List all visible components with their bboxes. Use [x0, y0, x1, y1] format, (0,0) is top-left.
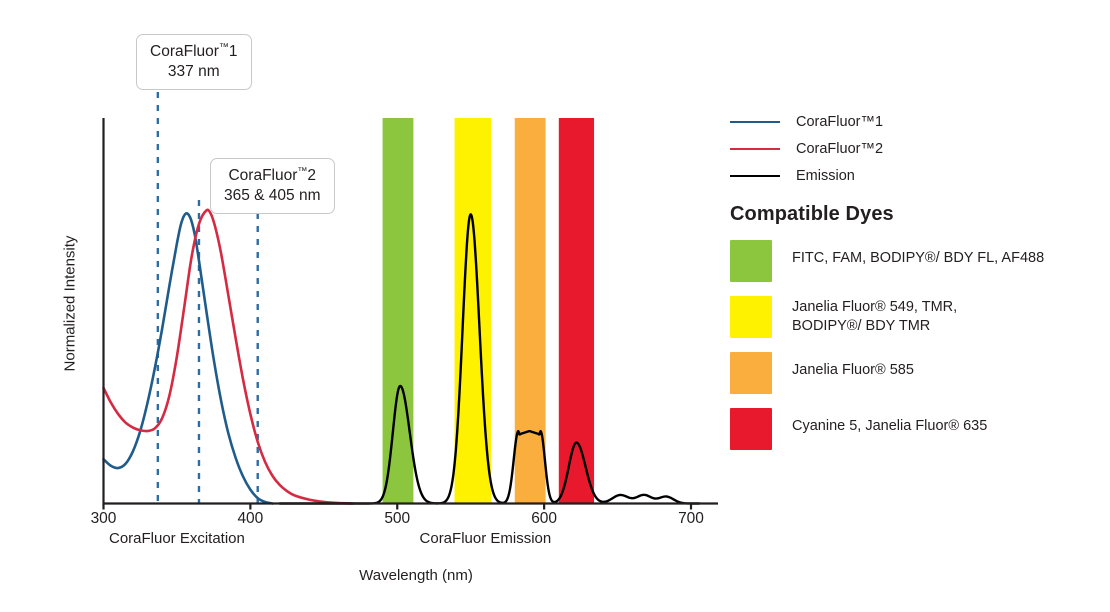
callout-corafluor-1: CoraFluor™1 337 nm — [136, 34, 252, 90]
legend-panel: CoraFluor™1CoraFluor™2Emission Compatibl… — [730, 108, 1090, 450]
x-axis-title: Wavelength (nm) — [296, 567, 536, 584]
legend-item-label: CoraFluor™1 — [796, 114, 883, 130]
dye-legend-item-2: Janelia Fluor® 549, TMR,BODIPY®/ BDY TMR — [730, 296, 1090, 338]
dye-label-line-1: Janelia Fluor® 585 — [792, 361, 914, 380]
dye-label-line-2: BODIPY®/ BDY TMR — [792, 317, 957, 336]
x-tick-label-700: 700 — [656, 510, 726, 528]
x-tick-label-300: 300 — [69, 510, 139, 528]
callout-cf2-value: 365 & 405 nm — [224, 186, 321, 206]
line-swatch-icon — [730, 148, 780, 150]
legend-item-3: Emission — [730, 162, 1090, 189]
dye-legend-item-4: Cyanine 5, Janelia Fluor® 635 — [730, 408, 1090, 450]
dye-legend-label: Janelia Fluor® 549, TMR,BODIPY®/ BDY TMR — [792, 296, 957, 336]
dye-band-group — [383, 118, 595, 504]
compatible-dyes-title: Compatible Dyes — [730, 203, 1090, 226]
legend-item-2: CoraFluor™2 — [730, 135, 1090, 162]
curve-excitation-1 — [104, 213, 273, 503]
dye-label-line-1: Janelia Fluor® 549, TMR, — [792, 298, 957, 317]
dye-band-1 — [383, 118, 414, 504]
legend-item-label: Emission — [796, 168, 855, 184]
y-axis-title: Normalized Intensity — [62, 214, 79, 394]
dye-color-swatch — [730, 240, 772, 282]
x-tick-label-400: 400 — [215, 510, 285, 528]
dye-color-swatch — [730, 408, 772, 450]
dye-band-4 — [559, 118, 594, 504]
dye-label-line-1: Cyanine 5, Janelia Fluor® 635 — [792, 417, 987, 436]
legend-item-label: CoraFluor™2 — [796, 141, 883, 157]
dye-band-3 — [515, 118, 546, 504]
dye-legend-label: Janelia Fluor® 585 — [792, 352, 914, 380]
dye-legend-label: Cyanine 5, Janelia Fluor® 635 — [792, 408, 987, 436]
line-swatch-icon — [730, 175, 780, 177]
dye-color-swatch — [730, 296, 772, 338]
legend-item-1: CoraFluor™1 — [730, 108, 1090, 135]
dye-legend-label: FITC, FAM, BODIPY®/ BDY FL, AF488 — [792, 240, 1044, 268]
dye-color-swatch — [730, 352, 772, 394]
excitation-marker-group — [158, 92, 258, 504]
dye-label-line-1: FITC, FAM, BODIPY®/ BDY FL, AF488 — [792, 249, 1044, 268]
callout-corafluor-2: CoraFluor™2 365 & 405 nm — [210, 158, 335, 214]
legend-series-list: CoraFluor™1CoraFluor™2Emission — [730, 108, 1090, 189]
callout-cf1-value: 337 nm — [150, 62, 238, 82]
x-tick-label-600: 600 — [509, 510, 579, 528]
chart-canvas: CoraFluor™1 337 nm CoraFluor™2 365 & 405… — [0, 0, 1110, 612]
compatible-dyes-list: FITC, FAM, BODIPY®/ BDY FL, AF488Janelia… — [730, 240, 1090, 450]
line-swatch-icon — [730, 121, 780, 123]
dye-legend-item-1: FITC, FAM, BODIPY®/ BDY FL, AF488 — [730, 240, 1090, 282]
zone-label-excitation: CoraFluor Excitation — [67, 530, 287, 547]
zone-label-emission: CoraFluor Emission — [375, 530, 595, 547]
callout-cf2-name: CoraFluor™2 — [224, 166, 321, 186]
callout-cf1-name: CoraFluor™1 — [150, 42, 238, 62]
curve-excitation-2 — [104, 210, 354, 504]
x-tick-label-500: 500 — [362, 510, 432, 528]
dye-legend-item-3: Janelia Fluor® 585 — [730, 352, 1090, 394]
